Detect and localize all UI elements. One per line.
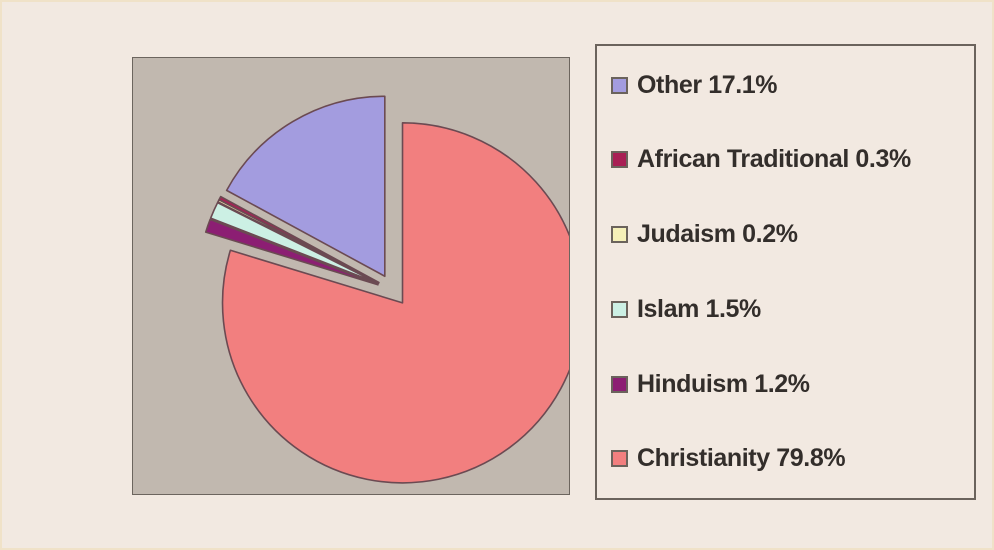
- legend-color-swatch: [611, 151, 628, 168]
- legend-item[interactable]: African Traditional 0.3%: [611, 145, 974, 175]
- pie-slice-group: [206, 96, 569, 483]
- legend-item-list: Other 17.1%African Traditional 0.3%Judai…: [611, 64, 974, 498]
- pie-chart-svg: [133, 58, 569, 494]
- legend-item-label: Hinduism 1.2%: [637, 370, 810, 399]
- legend-color-swatch: [611, 376, 628, 393]
- legend-item[interactable]: Judaism 0.2%: [611, 220, 974, 250]
- legend-color-swatch: [611, 301, 628, 318]
- chart-legend: Other 17.1%African Traditional 0.3%Judai…: [595, 44, 976, 500]
- legend-item-label: Christianity 79.8%: [637, 444, 845, 473]
- legend-item[interactable]: Islam 1.5%: [611, 294, 974, 324]
- screenshot-root: Other 17.1%African Traditional 0.3%Judai…: [0, 0, 994, 550]
- legend-item-label: African Traditional 0.3%: [637, 145, 911, 174]
- pie-chart-plot-area: [132, 57, 570, 495]
- legend-item[interactable]: Other 17.1%: [611, 70, 974, 100]
- legend-color-swatch: [611, 226, 628, 243]
- legend-item-label: Other 17.1%: [637, 71, 777, 100]
- legend-color-swatch: [611, 77, 628, 94]
- legend-item[interactable]: Christianity 79.8%: [611, 444, 974, 474]
- legend-item-label: Judaism 0.2%: [637, 220, 798, 249]
- legend-item-label: Islam 1.5%: [637, 295, 761, 324]
- legend-color-swatch: [611, 450, 628, 467]
- legend-item[interactable]: Hinduism 1.2%: [611, 369, 974, 399]
